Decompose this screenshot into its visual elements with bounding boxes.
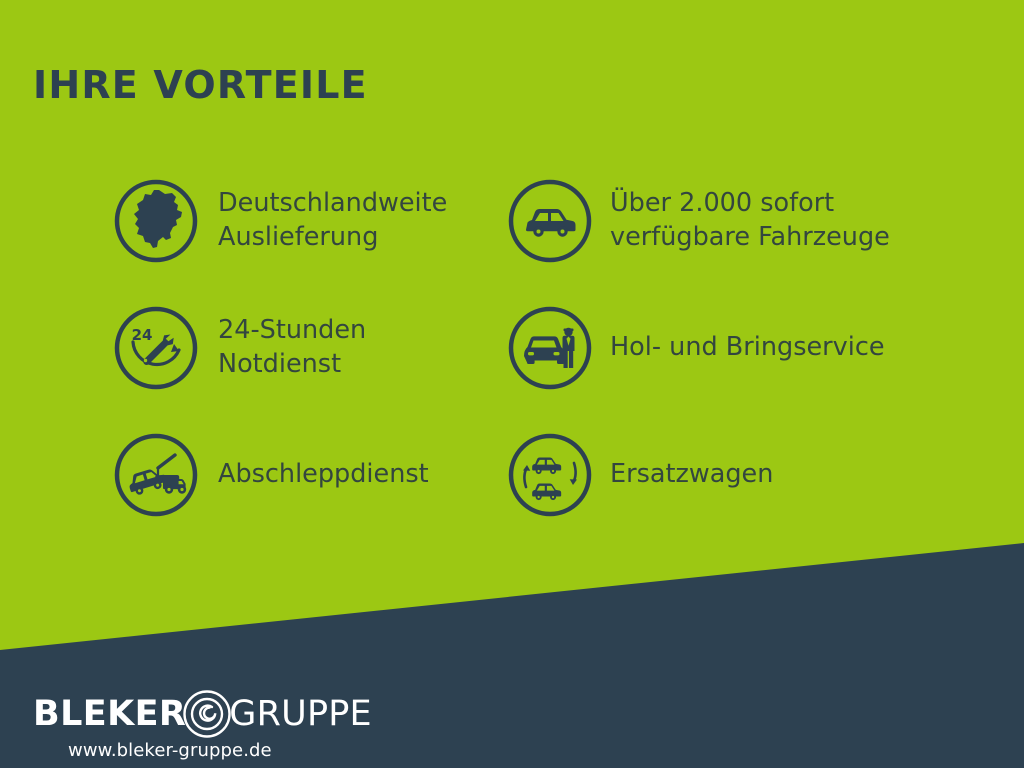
page-title: IHRE VORTEILE — [33, 66, 368, 104]
24-hour-wrench-icon: 24 — [112, 304, 200, 392]
benefits-grid: Deutschlandweite Auslieferung Über 2.000… — [112, 157, 972, 538]
tow-truck-icon — [112, 431, 200, 519]
benefit-label: Deutschlandweite Auslieferung — [218, 187, 447, 255]
logo-wordmark: BLEKER GRUPPE — [33, 692, 372, 736]
germany-map-icon — [112, 177, 200, 265]
car-side-icon — [506, 177, 594, 265]
benefit-label: 24-Stunden Notdienst — [218, 314, 366, 382]
two-cars-exchange-icon — [506, 431, 594, 519]
benefit-item-24-stunden-notdienst: 24 24-Stunden Notdienst — [112, 284, 506, 411]
benefit-item-verfuegbare-fahrzeuge: Über 2.000 sofort verfügbare Fahrzeuge — [506, 157, 946, 284]
slide-canvas: IHRE VORTEILE Deutschlandweite Ausliefer… — [0, 0, 1024, 768]
benefit-label: Hol- und Bringservice — [610, 331, 885, 365]
company-logo: BLEKER GRUPPE www.bleker-gruppe.de — [33, 692, 372, 761]
svg-text:24: 24 — [132, 326, 153, 344]
benefits-row: Deutschlandweite Auslieferung Über 2.000… — [112, 157, 972, 284]
benefit-item-ersatzwagen: Ersatzwagen — [506, 411, 946, 538]
benefit-item-deutschlandweite-auslieferung: Deutschlandweite Auslieferung — [112, 157, 506, 284]
benefit-label: Abschleppdienst — [218, 458, 429, 492]
logo-name-bold: BLEKER — [33, 697, 186, 732]
benefits-row: 24 24-Stunden Notdienst — [112, 284, 972, 411]
logo-name-light: GRUPPE — [229, 697, 372, 732]
benefit-item-abschleppdienst: Abschleppdienst — [112, 411, 506, 538]
car-with-driver-icon — [506, 304, 594, 392]
benefits-row: Abschleppdienst — [112, 411, 972, 538]
logo-website-url: www.bleker-gruppe.de — [68, 740, 272, 761]
benefit-label: Über 2.000 sofort verfügbare Fahrzeuge — [610, 187, 890, 255]
benefit-label: Ersatzwagen — [610, 458, 773, 492]
spiral-circle-logo-icon — [181, 688, 233, 740]
benefit-item-hol-und-bringservice: Hol- und Bringservice — [506, 284, 946, 411]
